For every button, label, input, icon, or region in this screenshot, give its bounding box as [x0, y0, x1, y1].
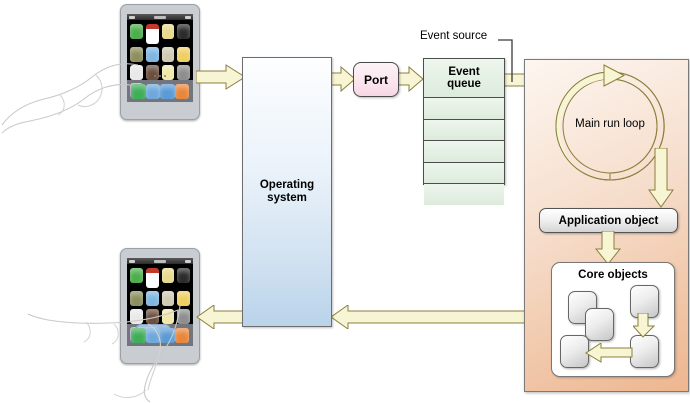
app-icon[interactable] [130, 47, 143, 62]
arrow-core-left [585, 343, 633, 363]
operating-system-label: Operating system [260, 179, 314, 205]
core-objects-box[interactable]: Core objects [551, 262, 675, 377]
app-icon[interactable] [130, 24, 143, 39]
event-queue-cell [424, 184, 504, 205]
app-icon[interactable] [146, 47, 159, 62]
event-queue-header-cell: Event queue [424, 59, 504, 98]
core-object-node[interactable] [585, 308, 614, 341]
arrow-core-down [633, 313, 655, 338]
application-object-label: Application object [559, 215, 659, 227]
event-queue[interactable]: Event queue [423, 58, 505, 185]
operating-system-box[interactable]: Operating system [242, 57, 332, 327]
event-source-label: Event source [420, 30, 487, 42]
arrow-phone-to-os [196, 64, 246, 90]
event-queue-cell [424, 98, 504, 120]
app-icon[interactable] [162, 268, 175, 283]
event-queue-cell [424, 163, 504, 185]
app-icon[interactable] [177, 309, 190, 324]
page-dots-top [127, 73, 193, 79]
dock-bottom [127, 324, 193, 346]
iphone-bottom[interactable] [120, 248, 200, 364]
event-queue-cell [424, 141, 504, 163]
dock-icon-mail[interactable] [146, 328, 161, 343]
main-run-loop-label: Main run loop [552, 118, 668, 130]
event-queue-label: Event queue [447, 66, 481, 91]
application-object-box[interactable]: Application object [539, 208, 678, 233]
arrow-panel-to-os-return [330, 305, 526, 329]
dock-icon-phone[interactable] [131, 328, 146, 343]
dock-icon-safari[interactable] [160, 328, 175, 343]
arrow-appobject-to-coreobjects [595, 231, 621, 265]
app-icon[interactable] [162, 309, 175, 324]
event-queue-cell [424, 120, 504, 142]
core-object-node[interactable] [630, 335, 659, 368]
port-box[interactable]: Port [353, 62, 399, 97]
app-icon[interactable] [177, 47, 190, 62]
app-icon[interactable] [177, 291, 190, 306]
dock-icon-phone[interactable] [131, 84, 146, 99]
app-icon[interactable] [130, 309, 143, 324]
arrow-port-to-queue [396, 66, 424, 92]
dock-icon-safari[interactable] [160, 84, 175, 99]
app-icon-calendar[interactable] [146, 24, 159, 44]
arrow-os-to-phone-return [196, 305, 244, 329]
dock-icon-ipod[interactable] [175, 84, 190, 99]
dock-top [127, 80, 193, 102]
core-objects-label: Core objects [552, 269, 674, 281]
dock-icon-mail[interactable] [146, 84, 161, 99]
diagram-canvas: Operating system Port Event source Event… [0, 0, 690, 403]
arrow-runloop-to-appobject [648, 148, 674, 208]
port-label: Port [364, 73, 388, 87]
app-icon[interactable] [146, 291, 159, 306]
app-icon-calendar[interactable] [146, 268, 159, 288]
app-icon[interactable] [162, 47, 175, 62]
iphone-bottom-screen [127, 258, 193, 346]
app-icon[interactable] [130, 268, 143, 283]
app-icon[interactable] [162, 24, 175, 39]
dock-icon-ipod[interactable] [175, 328, 190, 343]
app-icon[interactable] [146, 309, 159, 324]
iphone-top[interactable] [120, 4, 200, 120]
app-icon[interactable] [177, 268, 190, 283]
iphone-top-screen [127, 14, 193, 102]
app-icon[interactable] [162, 291, 175, 306]
app-icon[interactable] [130, 291, 143, 306]
app-icon[interactable] [177, 24, 190, 39]
